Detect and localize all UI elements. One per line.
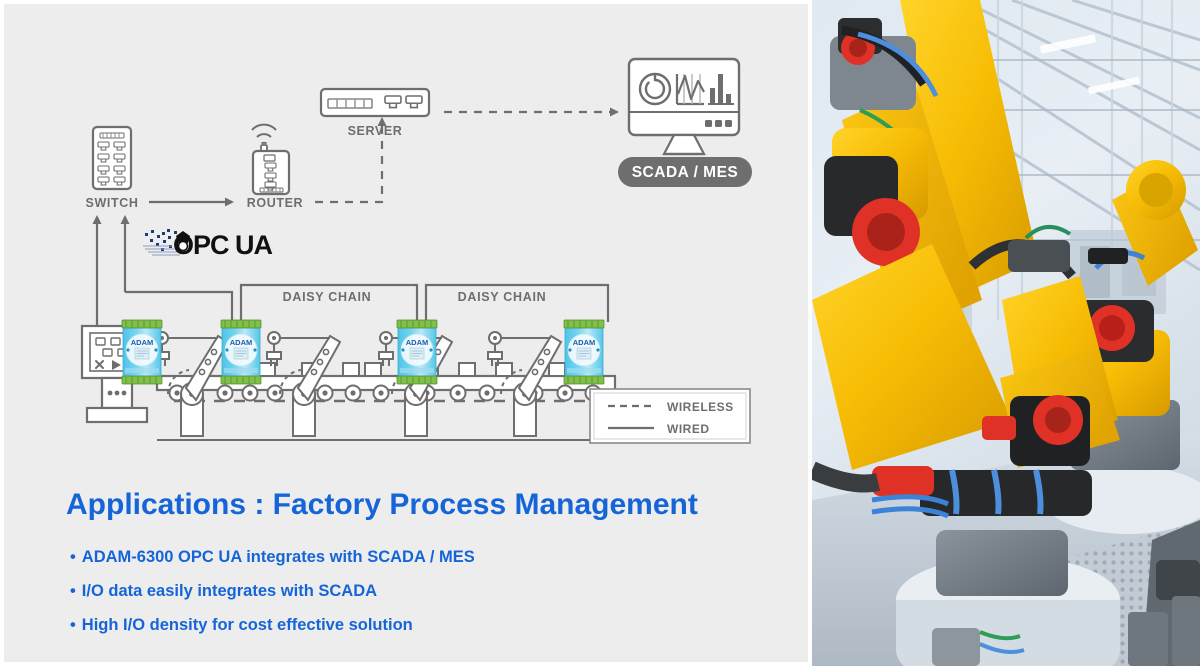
adam-module bbox=[564, 320, 604, 384]
bullet-marker: • bbox=[70, 548, 76, 566]
factory-robots-photo bbox=[812, 0, 1200, 666]
router-icon bbox=[252, 125, 289, 194]
adam-module bbox=[122, 320, 162, 384]
daisy-chain-label-2: DAISY CHAIN bbox=[458, 290, 547, 304]
scada-mes-badge: SCADA / MES bbox=[618, 157, 752, 187]
switch-icon bbox=[93, 127, 131, 189]
svg-text:WIRED: WIRED bbox=[667, 422, 710, 436]
list-item: •ADAM-6300 OPC UA integrates with SCADA … bbox=[66, 540, 786, 574]
scada-monitor-icon bbox=[629, 59, 739, 154]
svg-text:SCADA / MES: SCADA / MES bbox=[632, 164, 739, 181]
router-label: ROUTER bbox=[247, 196, 303, 210]
bullet-text: I/O data easily integrates with SCADA bbox=[82, 582, 377, 600]
server-icon bbox=[321, 89, 429, 116]
svg-text:WIRELESS: WIRELESS bbox=[667, 400, 734, 414]
bullet-marker: • bbox=[70, 582, 76, 600]
bullet-text: High I/O density for cost effective solu… bbox=[82, 616, 413, 634]
text-content-block: Applications : Factory Process Managemen… bbox=[66, 484, 786, 642]
daisy-chain-label-1: DAISY CHAIN bbox=[283, 290, 372, 304]
legend: WIRELESS WIRED bbox=[590, 389, 750, 443]
bullet-text: ADAM-6300 OPC UA integrates with SCADA /… bbox=[82, 548, 475, 566]
slide-root: ADAM bbox=[0, 0, 1200, 666]
network-topology-diagram: ADAM bbox=[4, 4, 808, 474]
page-title: Applications : Factory Process Managemen… bbox=[66, 484, 786, 526]
switch-label: SWITCH bbox=[86, 196, 139, 210]
list-item: •I/O data easily integrates with SCADA bbox=[66, 574, 786, 608]
list-item: •High I/O density for cost effective sol… bbox=[66, 608, 786, 642]
server-label: SERVER bbox=[348, 124, 403, 138]
svg-text:OPC UA: OPC UA bbox=[173, 230, 273, 260]
opc-ua-logo: OPC UA bbox=[143, 229, 273, 260]
bullet-marker: • bbox=[70, 616, 76, 634]
adam-module bbox=[221, 320, 261, 384]
adam-module bbox=[397, 320, 437, 384]
